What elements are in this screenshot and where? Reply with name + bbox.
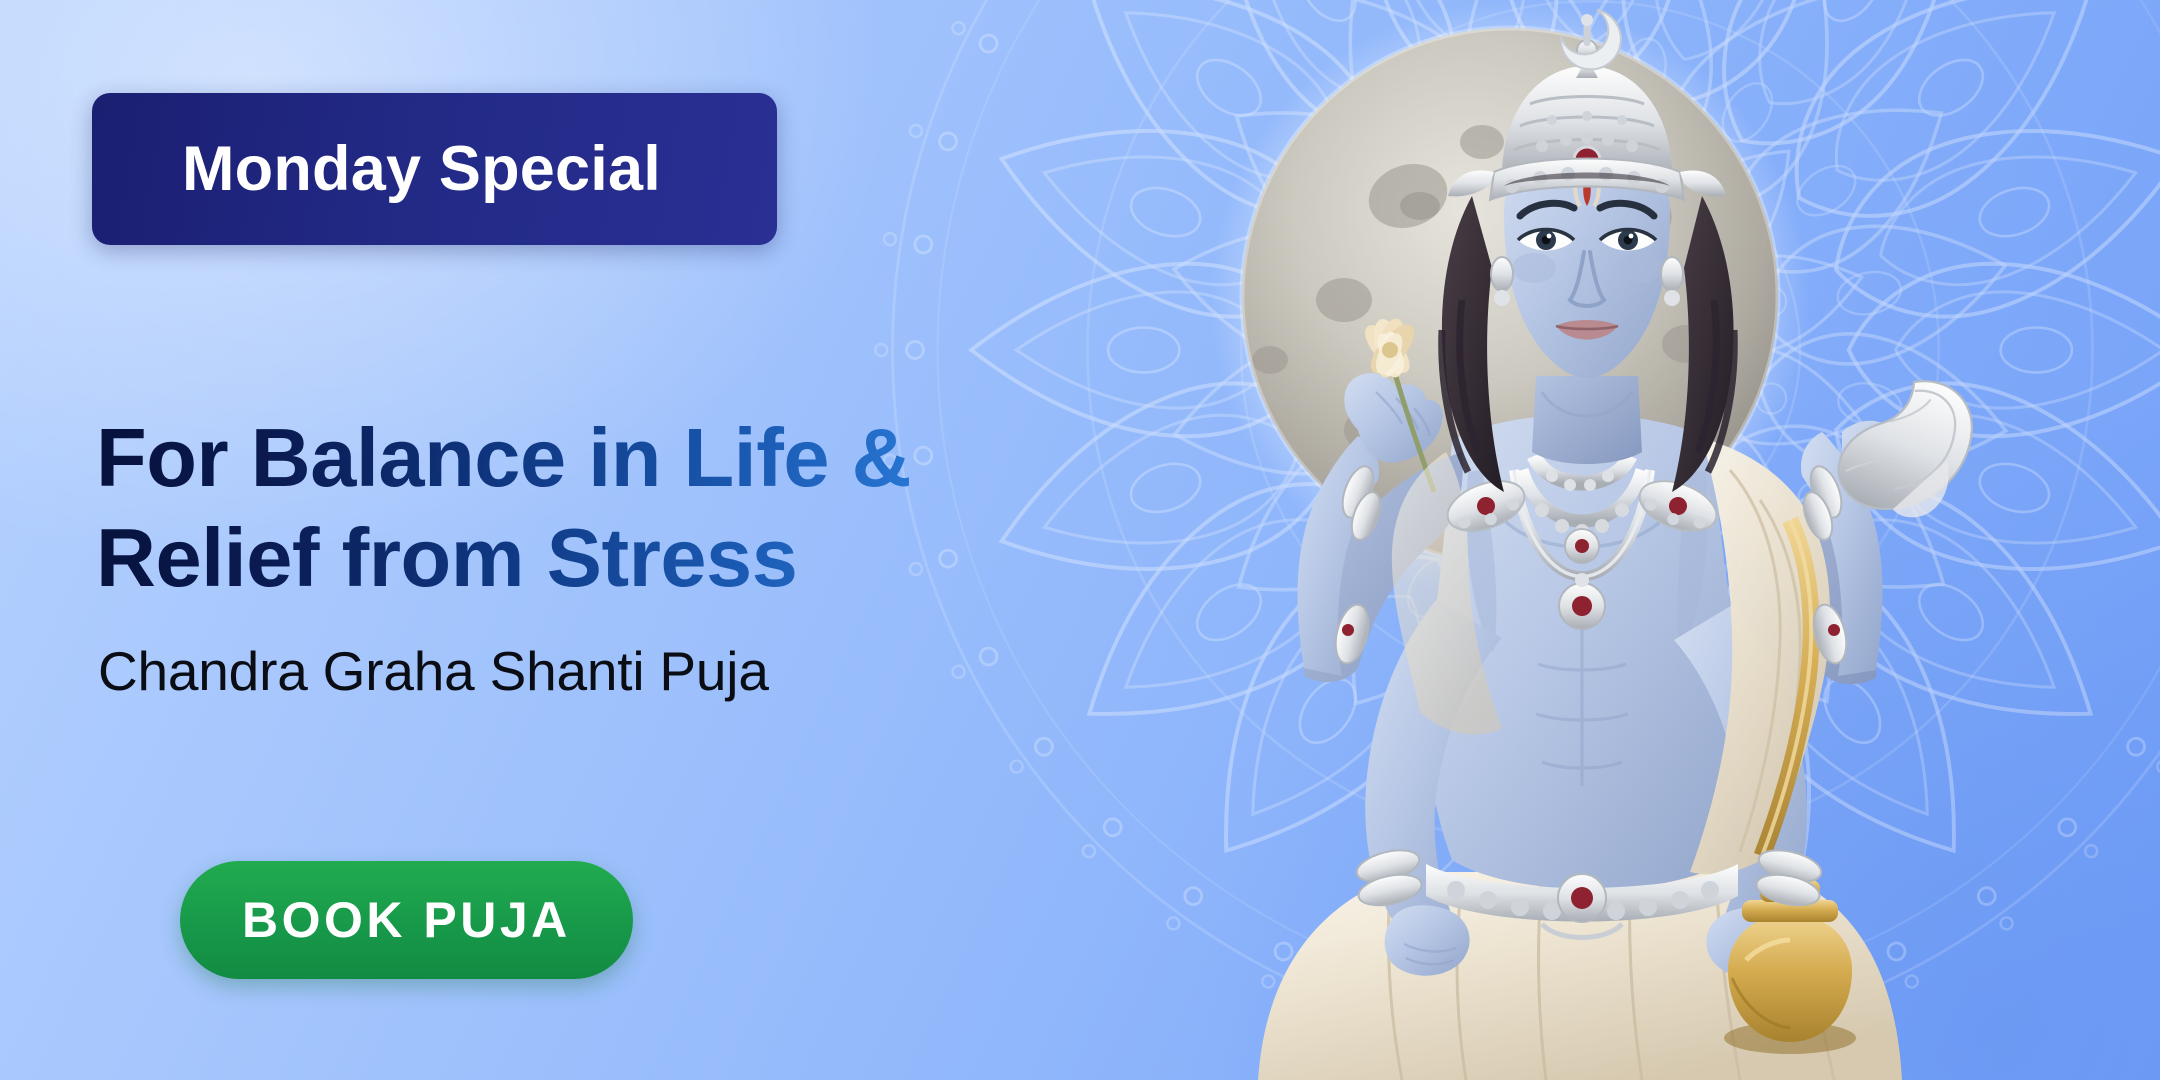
book-puja-label: BOOK PUJA <box>242 891 571 949</box>
monday-special-badge: Monday Special <box>92 93 777 245</box>
book-puja-button[interactable]: BOOK PUJA <box>180 861 633 979</box>
promo-banner: Monday Special For Balance in Life & Rel… <box>0 0 2160 1080</box>
banner-content: Monday Special For Balance in Life & Rel… <box>92 0 1172 1080</box>
puja-name-subtitle: Chandra Graha Shanti Puja <box>98 639 769 703</box>
page-title: For Balance in Life & Relief from Stress <box>96 408 1116 607</box>
badge-label: Monday Special <box>92 133 661 205</box>
chandra-deity-illustration <box>1090 0 2160 1080</box>
